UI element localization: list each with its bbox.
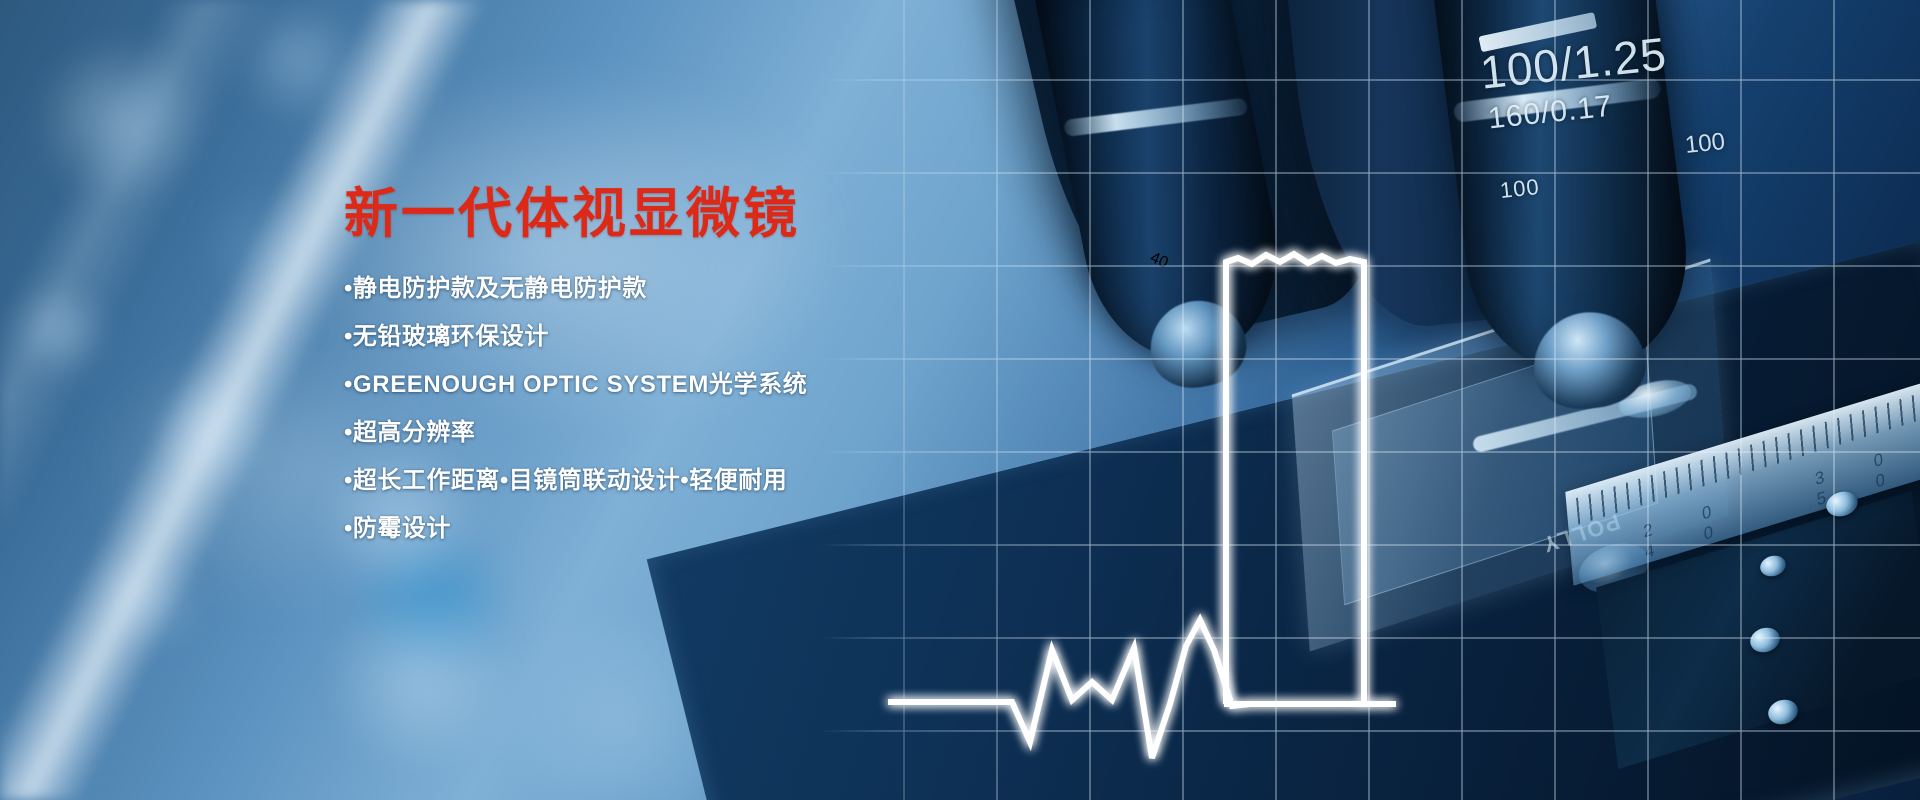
feature-item-3: •GREENOUGH OPTIC SYSTEM光学系统 (344, 373, 1044, 397)
square-pulse-shape (1226, 254, 1364, 704)
feature-list: •静电防护款及无静电防护款 •无铅玻璃环保设计 •GREENOUGH OPTIC… (344, 277, 1044, 541)
product-banner: POLLY 20 30 40 50 40 100/1.25 160/0.17 1… (0, 0, 1920, 800)
feature-item-4: •超高分辨率 (344, 421, 1044, 445)
feature-item-6: •防霉设计 (344, 517, 1044, 541)
feature-item-1: •静电防护款及无静电防护款 (344, 277, 1044, 301)
feature-item-2: •无铅玻璃环保设计 (344, 325, 1044, 349)
ecg-pulse-trace (888, 620, 1396, 758)
page-title: 新一代体视显微镜 (344, 186, 1044, 243)
feature-item-5: •超长工作距离•目镜筒联动设计•轻便耐用 (344, 469, 1044, 493)
banner-copy: 新一代体视显微镜 •静电防护款及无静电防护款 •无铅玻璃环保设计 •GREENO… (344, 186, 1044, 565)
